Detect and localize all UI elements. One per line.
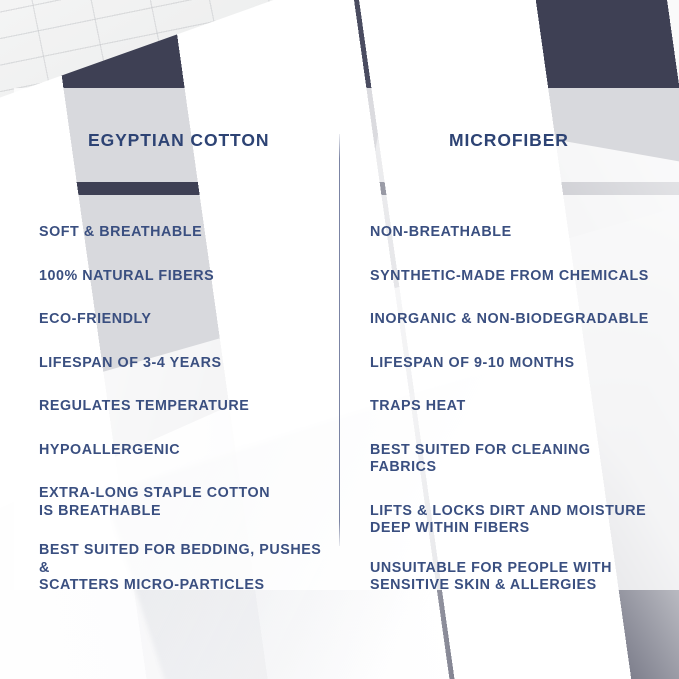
feature-item: LIFESPAN OF 9-10 MONTHS: [370, 355, 660, 373]
feature-item: LIFTS & LOCKS DIRT AND MOISTURE DEEP WIT…: [370, 503, 660, 538]
feature-item: LIFESPAN OF 3-4 YEARS: [39, 355, 329, 373]
column-title-microfiber: MICROFIBER: [449, 130, 569, 151]
feature-item: BEST SUITED FOR CLEANING FABRICS: [370, 442, 660, 477]
feature-item: NON-BREATHABLE: [370, 224, 660, 242]
feature-item: SYNTHETIC-MADE FROM CHEMICALS: [370, 268, 660, 286]
comparison-content: EGYPTIAN COTTON MICROFIBER SOFT & BREATH…: [0, 0, 679, 679]
feature-list-egyptian-cotton: SOFT & BREATHABLE 100% NATURAL FIBERS EC…: [39, 224, 329, 595]
feature-item: BEST SUITED FOR BEDDING, PUSHES & SCATTE…: [39, 542, 329, 595]
feature-item: ECO-FRIENDLY: [39, 311, 329, 329]
feature-list-microfiber: NON-BREATHABLE SYNTHETIC-MADE FROM CHEMI…: [370, 224, 660, 595]
feature-item: HYPOALLERGENIC: [39, 442, 329, 460]
feature-item: UNSUITABLE FOR PEOPLE WITH SENSITIVE SKI…: [370, 560, 660, 595]
feature-item: INORGANIC & NON-BIODEGRADABLE: [370, 311, 660, 329]
comparison-graphic: Times EGYPTIAN COTTON MICROFIBER SOFT & …: [0, 0, 679, 679]
feature-item: REGULATES TEMPERATURE: [39, 398, 329, 416]
feature-item: TRAPS HEAT: [370, 398, 660, 416]
column-divider: [339, 134, 340, 546]
feature-item: 100% NATURAL FIBERS: [39, 268, 329, 286]
column-title-egyptian-cotton: EGYPTIAN COTTON: [88, 130, 269, 151]
feature-item: SOFT & BREATHABLE: [39, 224, 329, 242]
feature-item: EXTRA-LONG STAPLE COTTON IS BREATHABLE: [39, 485, 329, 520]
